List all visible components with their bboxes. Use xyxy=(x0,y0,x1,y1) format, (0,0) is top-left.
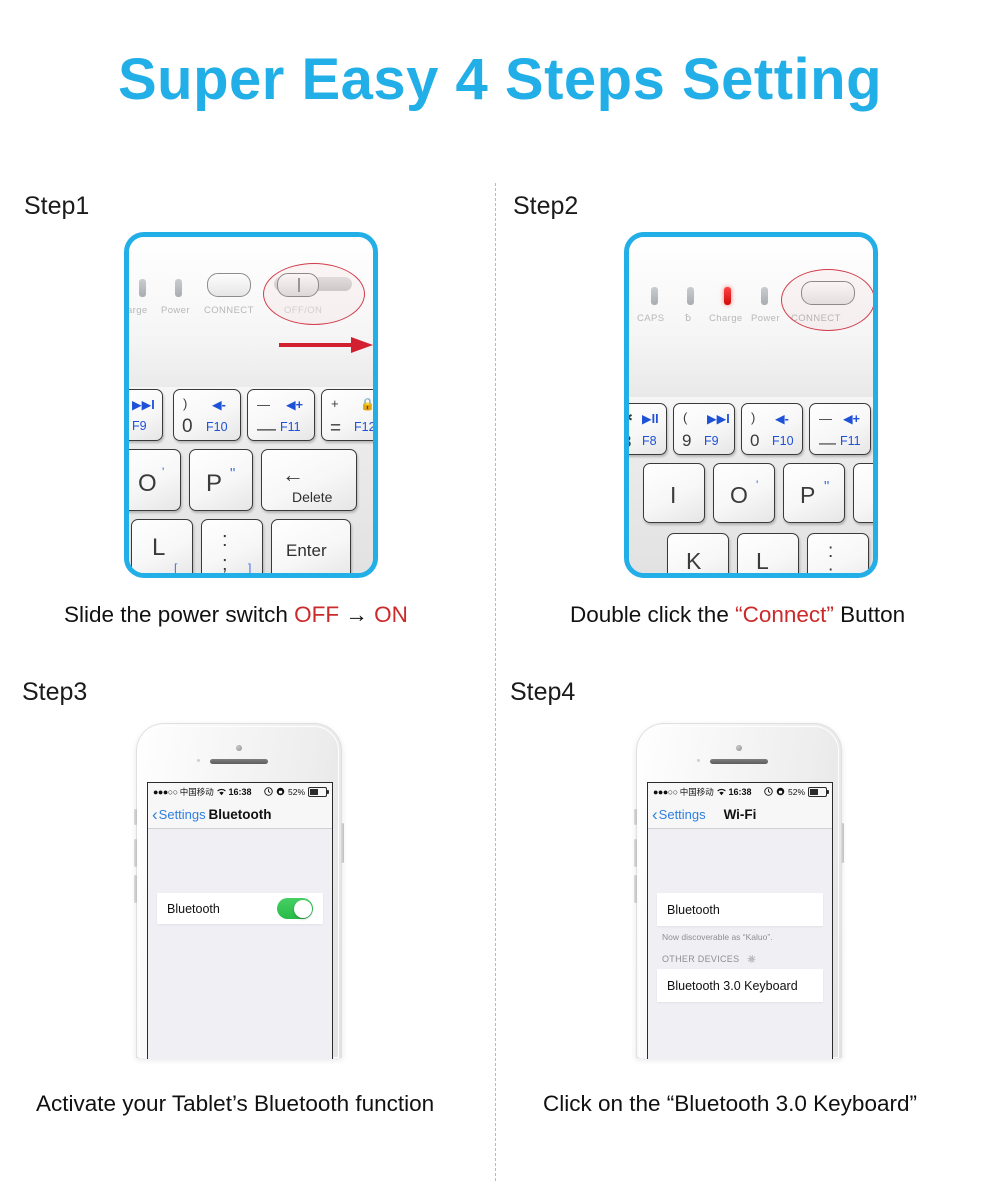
key-bracket-char: ] xyxy=(248,562,251,574)
signal-strength-icon: ●●●○○ xyxy=(153,787,178,797)
key-main-char: — xyxy=(257,420,276,439)
key-main-char: : xyxy=(222,530,228,550)
key-f8[interactable]: ✱ ▶II 8 F8 xyxy=(624,403,667,455)
step1-label: Step1 xyxy=(24,192,89,221)
step4-phone: ●●●○○ 中国移动 16:38 52% xyxy=(628,723,850,1058)
bluetooth-row-label: Bluetooth xyxy=(167,902,220,916)
carrier-label: 中国移动 xyxy=(180,786,214,798)
carrier-label: 中国移动 xyxy=(680,786,714,798)
bluetooth-toggle[interactable] xyxy=(277,898,313,919)
key-l[interactable]: L [ xyxy=(131,519,193,578)
key-f11[interactable]: — ◀+ — F11 xyxy=(809,403,871,455)
step3-caption-text: Activate your Tablet’s Bluetooth functio… xyxy=(36,1091,434,1116)
key-shift-char: ) xyxy=(751,411,755,424)
battery-icon xyxy=(808,787,827,797)
step4-label: Step4 xyxy=(510,678,575,707)
key-p[interactable]: P " xyxy=(783,463,845,523)
key-main-char: 0 xyxy=(750,432,759,449)
step1-caption-arrow: → xyxy=(339,602,374,627)
front-camera-icon xyxy=(736,745,742,751)
led-bluetooth xyxy=(687,287,694,305)
bluetooth-toggle-row[interactable]: Bluetooth xyxy=(157,893,323,924)
key-semicolon[interactable]: : ; ] xyxy=(201,519,263,578)
discoverable-hint: Now discoverable as “Kaluo”. xyxy=(662,932,773,942)
back-label: Settings xyxy=(159,807,206,822)
wifi-icon xyxy=(716,787,727,796)
connect-button[interactable] xyxy=(207,273,251,297)
key-f11[interactable]: — ◀+ — F11 xyxy=(247,389,315,441)
key-glyph-next: ▶▶I xyxy=(707,413,730,426)
key-label-f9: F9 xyxy=(704,435,719,448)
red-arrow-icon xyxy=(277,333,375,357)
status-bar: ●●●○○ 中国移动 16:38 52% xyxy=(648,783,832,800)
mute-switch[interactable] xyxy=(134,809,137,825)
key-main-char: O xyxy=(138,472,157,496)
status-left: ●●●○○ 中国移动 xyxy=(653,786,727,798)
key-main-char: 8 xyxy=(624,433,631,450)
led-charge xyxy=(724,287,731,305)
led-indicator xyxy=(175,279,182,297)
key-label-f12: F12 xyxy=(354,421,376,434)
key-i[interactable]: I xyxy=(643,463,705,523)
power-button[interactable] xyxy=(341,823,344,863)
indicator-label-charge: arge xyxy=(127,305,148,316)
back-label: Settings xyxy=(659,807,706,822)
step2-caption-connect: “Connect” xyxy=(735,602,834,627)
step2-label: Step2 xyxy=(513,192,578,221)
step1-caption-off: OFF xyxy=(294,602,339,627)
step3-caption: Activate your Tablet’s Bluetooth functio… xyxy=(36,1091,434,1117)
key-shift-char: ✱ xyxy=(624,411,633,424)
key-shift-char: — xyxy=(257,398,270,411)
key-label-f10: F10 xyxy=(772,435,794,448)
nav-bar: ‹ Settings Bluetooth xyxy=(148,800,332,829)
volume-up-button[interactable] xyxy=(134,839,137,867)
key-shift-char: ( xyxy=(683,411,687,424)
status-bar: ●●●○○ 中国移动 16:38 52% xyxy=(148,783,332,800)
status-right: 52% xyxy=(764,787,827,797)
back-button[interactable]: ‹ Settings xyxy=(648,806,706,823)
key-bracket-char: [ xyxy=(782,574,785,578)
indicator-label-power: Power xyxy=(161,305,190,316)
key-glyph-volup: ◀+ xyxy=(843,413,860,426)
earpiece-speaker xyxy=(710,759,768,764)
key-sub-char: ; xyxy=(222,554,228,574)
key-bracket-char: [ xyxy=(174,562,177,574)
key-bracket-char: ] xyxy=(854,574,857,578)
status-time: 16:38 xyxy=(228,787,251,797)
battery-icon xyxy=(308,787,327,797)
step2-caption-post: Button xyxy=(834,602,905,627)
key-main-char: P xyxy=(206,472,222,496)
page-title: Super Easy 4 Steps Setting xyxy=(0,50,1000,111)
back-button[interactable]: ‹ Settings xyxy=(148,806,206,823)
indicator-label-charge: Charge xyxy=(709,313,743,324)
step2-caption-pre: Double click the xyxy=(570,602,735,627)
key-glyph-next: ▶▶I xyxy=(132,399,155,412)
step1-keyboard-photo: arge Power CONNECT OFF/ON ▶▶I F9 ) ◀- 0 … xyxy=(124,232,378,578)
key-label-f11: F11 xyxy=(840,435,861,448)
phone-screen: ●●●○○ 中国移动 16:38 52% xyxy=(147,782,333,1059)
backspace-arrow-icon: ← xyxy=(282,464,304,486)
status-time: 16:38 xyxy=(728,787,751,797)
volume-down-button[interactable] xyxy=(634,875,637,903)
bluetooth-row[interactable]: Bluetooth xyxy=(657,893,823,926)
device-name-label: Bluetooth 3.0 Keyboard xyxy=(667,979,798,993)
led-power xyxy=(761,287,768,305)
proximity-sensor-icon xyxy=(697,759,700,762)
key-shift-char: + xyxy=(331,397,339,410)
key-k[interactable]: K xyxy=(667,533,729,578)
front-camera-icon xyxy=(236,745,242,751)
key-main-char: L xyxy=(756,550,769,573)
settings-content: Bluetooth xyxy=(148,829,332,1059)
wifi-icon xyxy=(216,787,227,796)
rotation-lock-icon xyxy=(276,787,285,796)
signal-strength-icon: ●●●○○ xyxy=(653,787,678,797)
key-main-char: 0 xyxy=(182,417,193,436)
key-label-enter: Enter xyxy=(286,542,327,559)
key-label-f8: F8 xyxy=(642,435,657,448)
volume-up-button[interactable] xyxy=(634,839,637,867)
battery-percent: 52% xyxy=(288,787,305,797)
key-o[interactable]: O ' xyxy=(124,449,181,511)
key-main-char: L xyxy=(152,536,165,560)
key-main-char: = xyxy=(330,419,341,438)
key-label-f10: F10 xyxy=(206,421,228,434)
step4-caption: Click on the “Bluetooth 3.0 Keyboard” xyxy=(543,1091,917,1117)
key-sup-char: " xyxy=(230,466,235,481)
other-devices-header: OTHER DEVICES xyxy=(662,953,756,964)
key-sup-char: " xyxy=(824,479,829,494)
power-button[interactable] xyxy=(841,823,844,863)
chevron-left-icon: ‹ xyxy=(152,806,158,823)
alarm-icon xyxy=(764,787,773,796)
proximity-sensor-icon xyxy=(197,759,200,762)
key-sup-char: ' xyxy=(756,479,758,491)
key-sup-char: ' xyxy=(162,466,164,478)
nav-title: Bluetooth xyxy=(209,807,272,822)
highlight-ellipse xyxy=(781,269,875,331)
key-o[interactable]: O ' xyxy=(713,463,775,523)
step1-caption: Slide the power switch OFF → ON xyxy=(64,602,408,628)
volume-down-button[interactable] xyxy=(134,875,137,903)
step2-keyboard-photo: CAPS ␢ Charge Power CONNECT ✱ ▶II 8 F8 (… xyxy=(624,232,878,578)
key-f9[interactable]: ▶▶I F9 xyxy=(124,389,163,441)
step3-phone: ●●●○○ 中国移动 16:38 52% xyxy=(128,723,350,1058)
settings-content: Bluetooth Now discoverable as “Kaluo”. O… xyxy=(648,829,832,1059)
key-f10[interactable]: ) ◀- 0 F10 xyxy=(173,389,241,441)
key-main-char: K xyxy=(686,550,701,573)
battery-percent: 52% xyxy=(788,787,805,797)
key-main-char: O xyxy=(730,484,748,507)
key-glyph-voldown: ◀- xyxy=(775,413,789,426)
key-glyph-volup: ◀+ xyxy=(286,399,303,412)
key-main-char: P xyxy=(800,484,815,507)
indicator-label-connect: CONNECT xyxy=(204,305,254,316)
mute-switch[interactable] xyxy=(634,809,637,825)
key-label-f9: F9 xyxy=(132,420,147,433)
step1-caption-pre: Slide the power switch xyxy=(64,602,294,627)
led-caps xyxy=(651,287,658,305)
step1-caption-on: ON xyxy=(374,602,408,627)
lock-icon: 🔒 xyxy=(360,398,375,410)
alarm-icon xyxy=(264,787,273,796)
key-sub-char: ; xyxy=(828,564,833,578)
step4-caption-text: Click on the “Bluetooth 3.0 Keyboard” xyxy=(543,1091,917,1116)
column-divider xyxy=(495,183,496,1181)
status-left: ●●●○○ 中国移动 xyxy=(153,786,227,798)
bluetooth-row-label: Bluetooth xyxy=(667,903,720,917)
status-right: 52% xyxy=(264,787,327,797)
nav-title: Wi-Fi xyxy=(724,807,757,822)
key-main-char: I xyxy=(670,484,676,507)
highlight-ellipse xyxy=(263,263,365,325)
device-row-bluetooth-keyboard[interactable]: Bluetooth 3.0 Keyboard xyxy=(657,969,823,1002)
key-glyph-playpause: ▶II xyxy=(642,413,659,426)
key-f12[interactable]: + 🔒 = F12 xyxy=(321,389,378,441)
key-p[interactable]: P " xyxy=(189,449,253,511)
led-indicator xyxy=(139,279,146,297)
key-shift-char: ) xyxy=(183,397,187,410)
phone-screen: ●●●○○ 中国移动 16:38 52% xyxy=(647,782,833,1059)
key-f9[interactable]: ( ▶▶I 9 F9 xyxy=(673,403,735,455)
bluetooth-icon: ␢ xyxy=(685,313,691,324)
key-enter[interactable]: Enter xyxy=(271,519,351,578)
key-semicolon[interactable]: : ; ] xyxy=(807,533,869,578)
toggle-knob xyxy=(294,900,312,918)
key-main-char: 9 xyxy=(682,432,691,449)
key-shift-char: — xyxy=(819,412,832,425)
key-l[interactable]: L [ xyxy=(737,533,799,578)
rotation-lock-icon xyxy=(776,787,785,796)
key-glyph-voldown: ◀- xyxy=(212,399,226,412)
key-f10[interactable]: ) ◀- 0 F10 xyxy=(741,403,803,455)
indicator-label-power: Power xyxy=(751,313,780,324)
step3-label: Step3 xyxy=(22,678,87,707)
nav-bar: ‹ Settings Wi-Fi xyxy=(648,800,832,829)
earpiece-speaker xyxy=(210,759,268,764)
loading-spinner-icon xyxy=(745,953,756,964)
key-main-char: : xyxy=(828,542,833,561)
key-delete[interactable]: ← Delete xyxy=(261,449,357,511)
other-devices-label: OTHER DEVICES xyxy=(662,954,739,964)
key-next-partial[interactable] xyxy=(853,463,878,523)
key-label-f11: F11 xyxy=(280,421,301,434)
indicator-label-caps: CAPS xyxy=(637,313,664,324)
chevron-left-icon: ‹ xyxy=(652,806,658,823)
step2-caption: Double click the “Connect” Button xyxy=(570,602,905,628)
key-label-delete: Delete xyxy=(292,490,332,504)
key-main-char: — xyxy=(819,434,836,451)
